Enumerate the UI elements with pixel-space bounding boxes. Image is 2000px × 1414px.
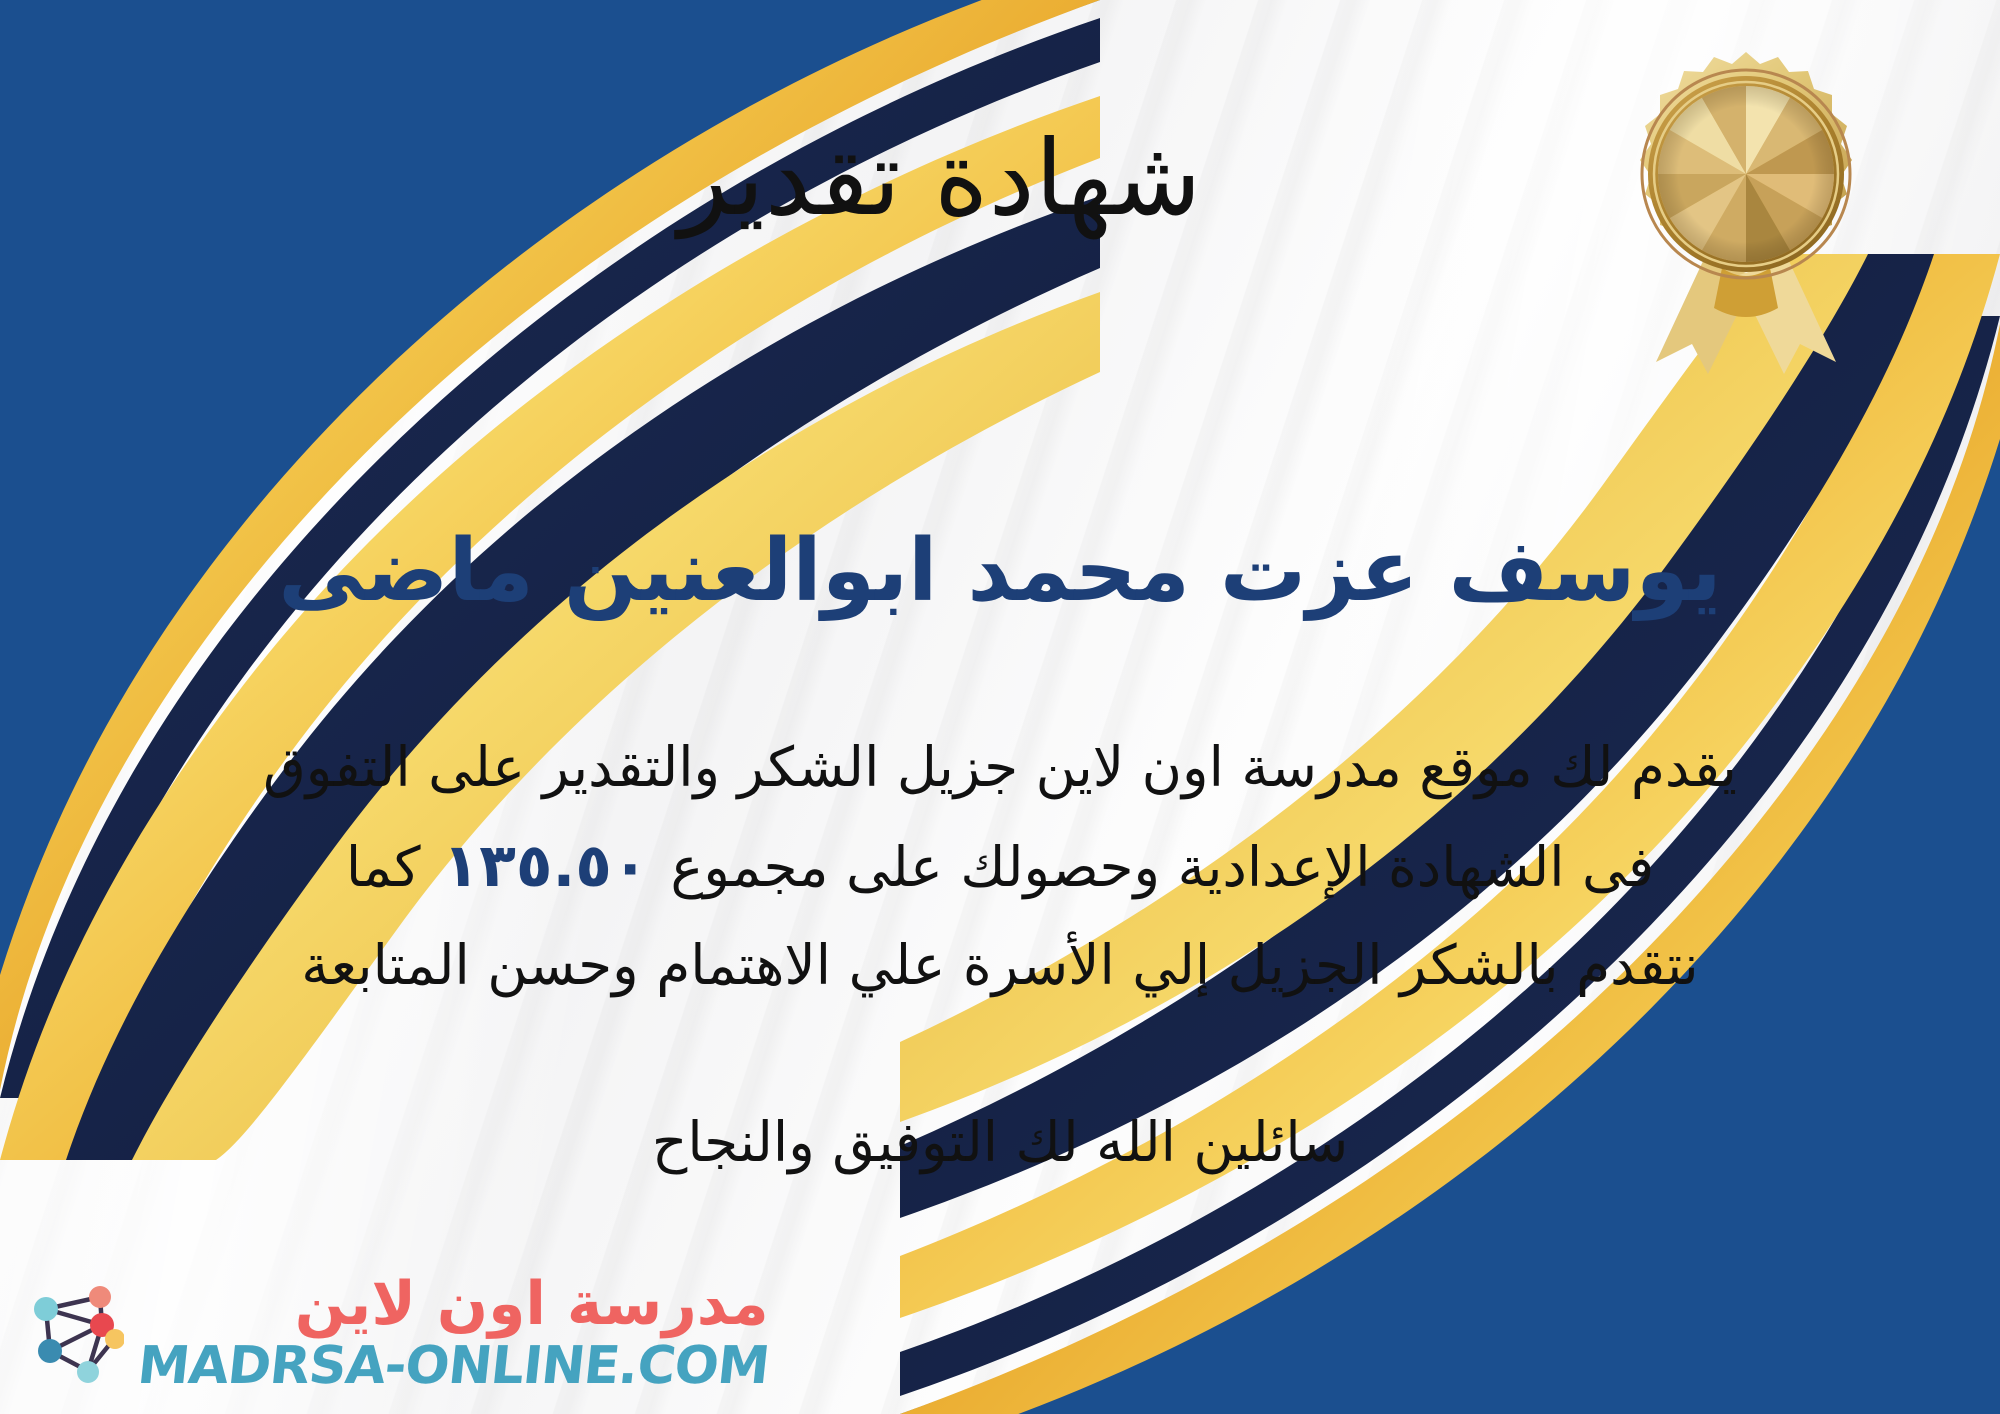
brand-arabic-name: مدرسة اون لاين [295, 1274, 769, 1334]
recipient-name: يوسف عزت محمد ابوالعنين ماضى [0, 520, 2000, 623]
citation-body: يقدم لك موقع مدرسة اون لاين جزيل الشكر و… [110, 720, 1890, 1012]
certificate-canvas: شهادة تقدير يوسف عزت محمد ابوالعنين ماضى… [0, 0, 2000, 1414]
brand-website: MADRSA-ONLINE.COM [135, 1340, 771, 1392]
network-nodes-logo-icon [28, 1281, 124, 1385]
citation-line-2-prefix: فى الشهادة الإعدادية وحصولك على مجموع [671, 835, 1655, 899]
grade-total-value: ١٣٥.٥٠ [421, 831, 671, 901]
citation-line-1: يقدم لك موقع مدرسة اون لاين جزيل الشكر و… [110, 720, 1890, 815]
brand-logo[interactable]: مدرسة اون لاين MADRSA-ONLINE.COM [28, 1274, 769, 1392]
page-title: شهادة تقدير [0, 120, 2000, 236]
citation-line-3: نتقدم بالشكر الجزيل إلي الأسرة علي الاهت… [110, 918, 1890, 1013]
citation-line-2: فى الشهادة الإعدادية وحصولك على مجموع١٣٥… [110, 815, 1890, 918]
certificate-content: شهادة تقدير يوسف عزت محمد ابوالعنين ماضى… [0, 0, 2000, 1414]
citation-line-2-suffix: كما [346, 835, 421, 899]
closing-wish: سائلين الله لك التوفيق والنجاح [0, 1098, 2000, 1186]
brand-text-block: مدرسة اون لاين MADRSA-ONLINE.COM [138, 1274, 769, 1392]
